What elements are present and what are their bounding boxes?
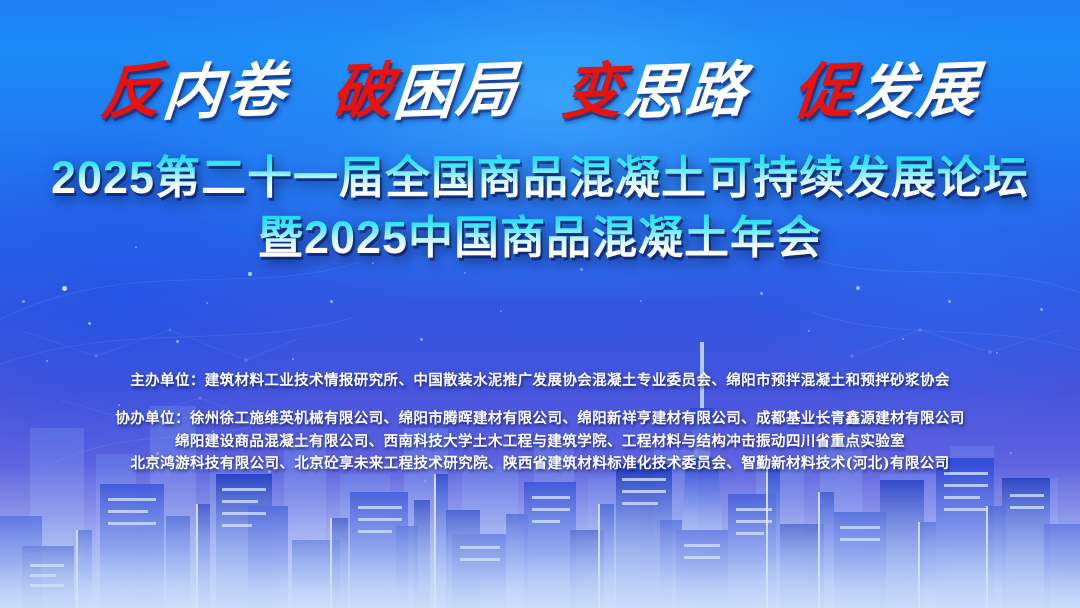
organizer-block: 主办单位：建筑材料工业技术情报研究所、中国散装水泥推广发展协会混凝土专业委员会、… — [0, 370, 1080, 476]
poster-headline: 反内卷 破困局 变思路 促发展 — [0, 62, 1080, 122]
headline-accent-char-3: 变 — [560, 61, 627, 123]
host-organizer-line: 主办单位：建筑材料工业技术情报研究所、中国散装水泥推广发展协会混凝土专业委员会、… — [0, 370, 1080, 392]
co-organizer-line-2: 绵阳建设商品混凝土有限公司、西南科技大学土木工程与建筑学院、工程材料与结构冲击振… — [0, 431, 1080, 453]
page-title: 2025第二十一届全国商品混凝土可持续发展论坛 暨2025中国商品混凝土年会 — [0, 152, 1080, 264]
headline-accent-char-4: 促 — [791, 61, 858, 123]
headline-rest-1: 内卷 — [160, 60, 290, 124]
co-organizer-line-1: 协办单位：徐州徐工施维英机械有限公司、绵阳市腾晖建材有限公司、绵阳新祥亨建材有限… — [0, 408, 1080, 430]
host-organizer-group: 主办单位：建筑材料工业技术情报研究所、中国散装水泥推广发展协会混凝土专业委员会、… — [0, 370, 1080, 392]
title-line-1: 2025第二十一届全国商品混凝土可持续发展论坛 — [0, 152, 1080, 204]
headline-phrase-4: 促发展 — [793, 62, 979, 122]
headline-rest-2: 困局 — [391, 60, 521, 124]
conference-poster: 反内卷 破困局 变思路 促发展 2025第二十一届全国商品混凝土可持续发展论坛 … — [0, 0, 1080, 608]
headline-rest-4: 发展 — [852, 60, 982, 124]
headline-phrase-1: 反内卷 — [101, 62, 287, 122]
headline-accent-char-1: 反 — [98, 61, 165, 123]
title-line-2: 暨2025中国商品混凝土年会 — [0, 212, 1080, 264]
headline-phrase-2: 破困局 — [332, 62, 518, 122]
headline-accent-char-2: 破 — [329, 61, 396, 123]
headline-rest-3: 思路 — [622, 60, 752, 124]
co-organizer-group: 协办单位：徐州徐工施维英机械有限公司、绵阳市腾晖建材有限公司、绵阳新祥亨建材有限… — [0, 408, 1080, 475]
co-organizer-line-3: 北京鸿游科技有限公司、北京砼享未来工程技术研究院、陕西省建筑材料标准化技术委员会… — [0, 453, 1080, 475]
headline-phrase-3: 变思路 — [562, 62, 748, 122]
